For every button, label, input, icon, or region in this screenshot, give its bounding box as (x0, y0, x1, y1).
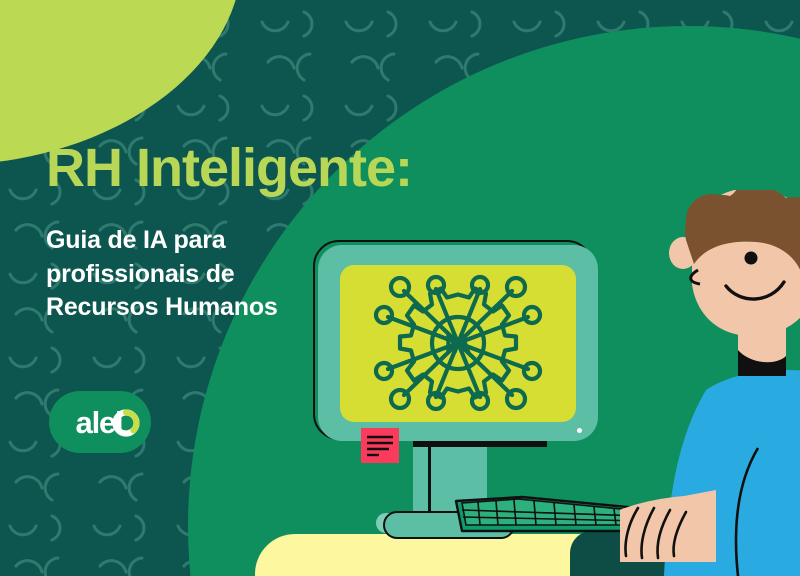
person-typing (620, 190, 800, 576)
page-title: RH Inteligente: (46, 140, 566, 196)
keyboard (452, 487, 648, 535)
monitor-screen: IA (340, 265, 576, 422)
eye (745, 252, 758, 265)
ai-label: IA (445, 329, 472, 359)
ai-gear-network-icon: IA (340, 265, 576, 422)
monitor-body: IA (318, 245, 598, 441)
alelo-logo[interactable]: alel (48, 383, 152, 461)
sticky-note (361, 428, 399, 463)
hand (620, 490, 716, 562)
monitor-led-icon (577, 428, 582, 433)
ebook-cover: RH Inteligente: Guia de IA para profissi… (0, 0, 800, 576)
